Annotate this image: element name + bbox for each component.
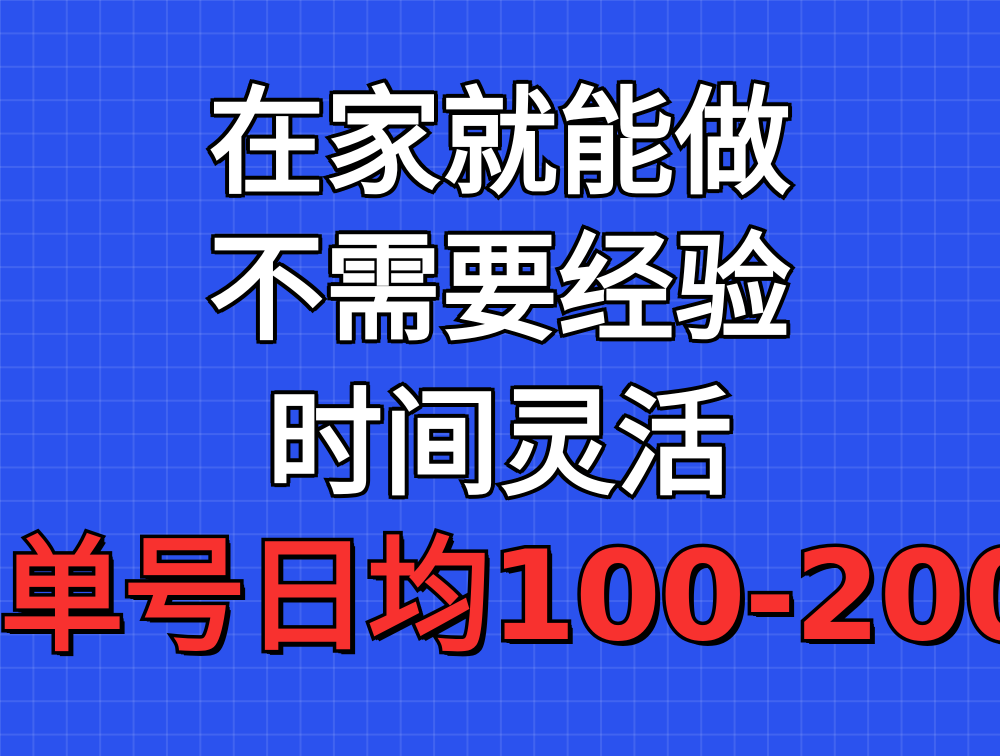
headline-line-1: 在家就能做 xyxy=(0,86,1000,202)
headline-line-4-earnings: 单号日均100-200 xyxy=(0,535,1000,659)
headline-line-2: 不需要经验 xyxy=(0,232,1000,348)
headline-group: 在家就能做 不需要经验 时间灵活 单号日均100-200 xyxy=(0,0,1000,756)
promo-banner: 在家就能做 不需要经验 时间灵活 单号日均100-200 xyxy=(0,0,1000,756)
headline-line-3: 时间灵活 xyxy=(0,387,1000,503)
